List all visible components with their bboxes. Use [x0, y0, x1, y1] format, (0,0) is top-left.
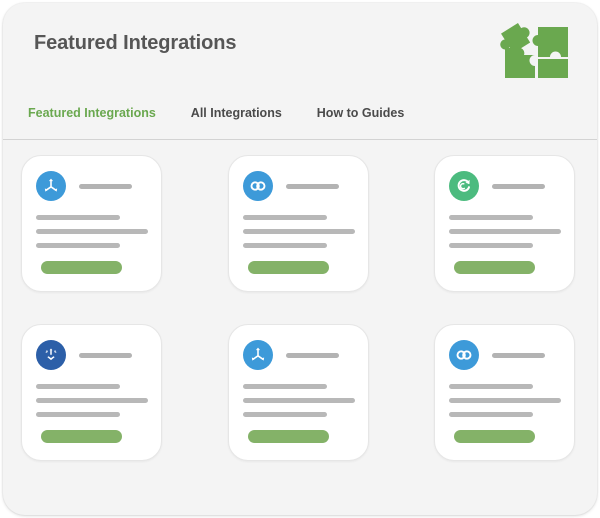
integration-card[interactable] — [434, 155, 575, 292]
tab-bar: Featured Integrations All Integrations H… — [28, 106, 404, 120]
card-text-line — [449, 243, 533, 248]
card-title-placeholder — [79, 353, 132, 358]
card-body-placeholder — [36, 215, 147, 248]
card-action-button[interactable] — [41, 261, 122, 274]
card-text-line — [243, 398, 355, 403]
card-action-button[interactable] — [41, 430, 122, 443]
card-title-placeholder — [286, 184, 339, 189]
card-text-line — [36, 412, 120, 417]
card-body-placeholder — [243, 215, 354, 248]
card-header — [36, 338, 147, 372]
integration-card[interactable] — [228, 155, 369, 292]
card-text-line — [243, 412, 327, 417]
integration-card[interactable] — [434, 324, 575, 461]
card-title-placeholder — [286, 353, 339, 358]
integration-card-grid — [3, 155, 597, 461]
card-text-line — [243, 243, 327, 248]
card-text-line — [449, 398, 561, 403]
card-text-line — [449, 229, 561, 234]
card-text-line — [243, 215, 327, 220]
card-header — [449, 169, 560, 203]
card-action-button[interactable] — [248, 430, 329, 443]
card-header — [36, 169, 147, 203]
tab-all-integrations[interactable]: All Integrations — [191, 106, 282, 120]
circular-arrow-icon — [449, 171, 479, 201]
tri-arrow-icon — [243, 340, 273, 370]
card-header — [449, 338, 560, 372]
card-text-line — [36, 384, 120, 389]
panel-header: Featured Integrations Featured Integrati… — [3, 3, 597, 139]
tri-arrow-icon — [36, 171, 66, 201]
card-action-button[interactable] — [248, 261, 329, 274]
card-text-line — [449, 384, 533, 389]
card-text-line — [243, 229, 355, 234]
integration-card[interactable] — [21, 155, 162, 292]
card-title-placeholder — [492, 353, 545, 358]
featured-integrations-panel: Featured Integrations Featured Integrati… — [3, 3, 597, 515]
card-text-line — [36, 243, 120, 248]
card-header — [243, 338, 354, 372]
integration-card[interactable] — [21, 324, 162, 461]
card-text-line — [36, 398, 148, 403]
card-body-placeholder — [449, 215, 560, 248]
card-header — [243, 169, 354, 203]
tab-featured-integrations[interactable]: Featured Integrations — [28, 106, 156, 120]
card-body-placeholder — [36, 384, 147, 417]
card-title-placeholder — [492, 184, 545, 189]
puzzle-pieces-icon — [494, 15, 572, 89]
header-divider — [3, 139, 597, 140]
card-text-line — [449, 412, 533, 417]
page-title: Featured Integrations — [34, 32, 236, 55]
card-text-line — [243, 384, 327, 389]
interlocking-rings-icon — [243, 171, 273, 201]
interlocking-rings-icon — [449, 340, 479, 370]
card-body-placeholder — [449, 384, 560, 417]
integration-card[interactable] — [228, 324, 369, 461]
card-body-placeholder — [243, 384, 354, 417]
card-title-placeholder — [79, 184, 132, 189]
card-action-button[interactable] — [454, 261, 535, 274]
card-text-line — [36, 215, 120, 220]
card-text-line — [449, 215, 533, 220]
tab-how-to-guides[interactable]: How to Guides — [317, 106, 405, 120]
face-gauge-icon — [36, 340, 66, 370]
card-text-line — [36, 229, 148, 234]
card-action-button[interactable] — [454, 430, 535, 443]
